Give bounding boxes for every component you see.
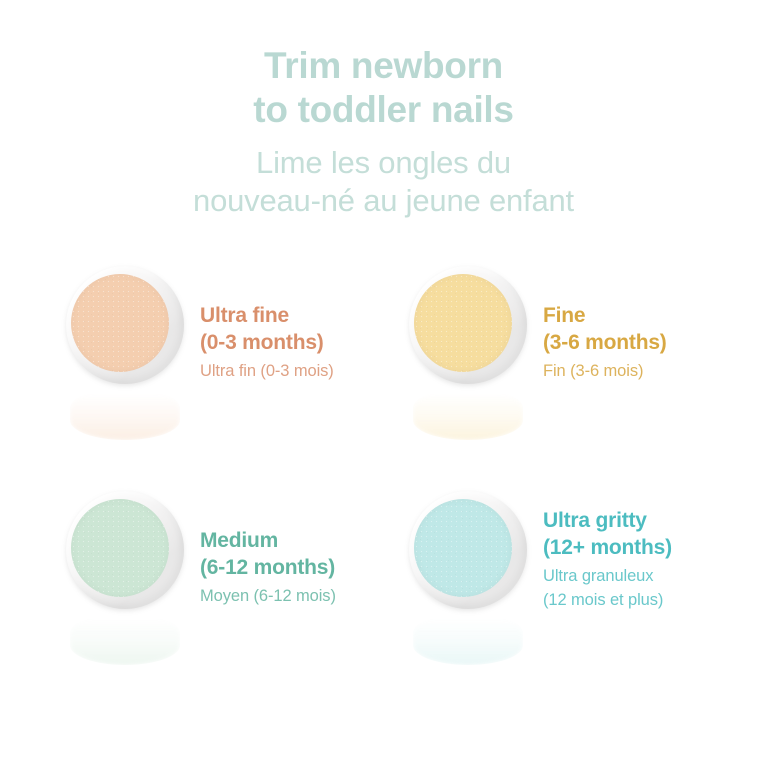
product-label-fine: Fine (3-6 months) Fin (3-6 mois) [543, 302, 753, 383]
product-name-en-line-1: Fine [543, 304, 585, 327]
page-subtitle-line-2: nouveau-né au jeune enfant [193, 183, 574, 218]
product-name-en: Medium (6-12 months) [200, 527, 410, 581]
disc-reflection [70, 613, 180, 665]
product-name-en-line-1: Ultra fine [200, 304, 289, 327]
page-title-line-1: Trim newborn [264, 45, 503, 86]
product-name-fr-line-2: (12 mois et plus) [543, 591, 663, 609]
product-name-fr-line-1: Ultra granuleux [543, 567, 653, 585]
product-name-fr-line-1: Fin (3-6 mois) [543, 362, 643, 380]
product-age-range-en: (12+ months) [543, 536, 672, 559]
disc-reflection [70, 388, 180, 440]
nail-file-disc-fine [409, 266, 533, 446]
product-label-ultra-fine: Ultra fine (0-3 months) Ultra fin (0-3 m… [200, 302, 410, 383]
abrasive-pad [414, 499, 512, 597]
page-title: Trim newborn to toddler nails [0, 44, 767, 132]
product-name-fr-line-1: Moyen (6-12 mois) [200, 587, 336, 605]
disc-casing-icon [409, 491, 527, 609]
product-name-fr: Ultra fin (0-3 mois) [200, 359, 410, 383]
product-card-ultra-fine: Ultra fine (0-3 months) Ultra fin (0-3 m… [60, 258, 410, 478]
nail-file-disc-medium [66, 491, 190, 671]
product-name-en: Ultra gritty (12+ months) [543, 507, 753, 561]
disc-reflection [413, 388, 523, 440]
product-name-fr: Moyen (6-12 mois) [200, 584, 410, 608]
product-name-fr: Ultra granuleux (12 mois et plus) [543, 564, 753, 612]
disc-casing-icon [66, 491, 184, 609]
page-subtitle-line-1: Lime les ongles du [256, 145, 511, 180]
nail-file-disc-ultra-fine [66, 266, 190, 446]
product-name-en: Fine (3-6 months) [543, 302, 753, 356]
product-grid: Ultra fine (0-3 months) Ultra fin (0-3 m… [0, 258, 767, 758]
header: Trim newborn to toddler nails Lime les o… [0, 0, 767, 220]
product-card-medium: Medium (6-12 months) Moyen (6-12 mois) [60, 483, 410, 703]
disc-reflection [413, 613, 523, 665]
product-name-fr: Fin (3-6 mois) [543, 359, 753, 383]
page-title-line-2: to toddler nails [253, 89, 513, 130]
product-card-ultra-gritty: Ultra gritty (12+ months) Ultra granuleu… [403, 483, 753, 703]
product-label-medium: Medium (6-12 months) Moyen (6-12 mois) [200, 527, 410, 608]
disc-casing-icon [66, 266, 184, 384]
product-name-en-line-1: Medium [200, 529, 278, 552]
product-name-en-line-1: Ultra gritty [543, 509, 647, 532]
page-subtitle-french: Lime les ongles du nouveau-né au jeune e… [0, 144, 767, 220]
disc-casing-icon [409, 266, 527, 384]
product-age-range-en: (0-3 months) [200, 331, 324, 354]
product-card-fine: Fine (3-6 months) Fin (3-6 mois) [403, 258, 753, 478]
abrasive-pad [71, 274, 169, 372]
product-age-range-en: (6-12 months) [200, 556, 335, 579]
product-label-ultra-gritty: Ultra gritty (12+ months) Ultra granuleu… [543, 507, 753, 612]
abrasive-pad [71, 499, 169, 597]
product-name-fr-line-1: Ultra fin (0-3 mois) [200, 362, 334, 380]
product-age-range-en: (3-6 months) [543, 331, 667, 354]
nail-file-disc-ultra-gritty [409, 491, 533, 671]
abrasive-pad [414, 274, 512, 372]
product-name-en: Ultra fine (0-3 months) [200, 302, 410, 356]
